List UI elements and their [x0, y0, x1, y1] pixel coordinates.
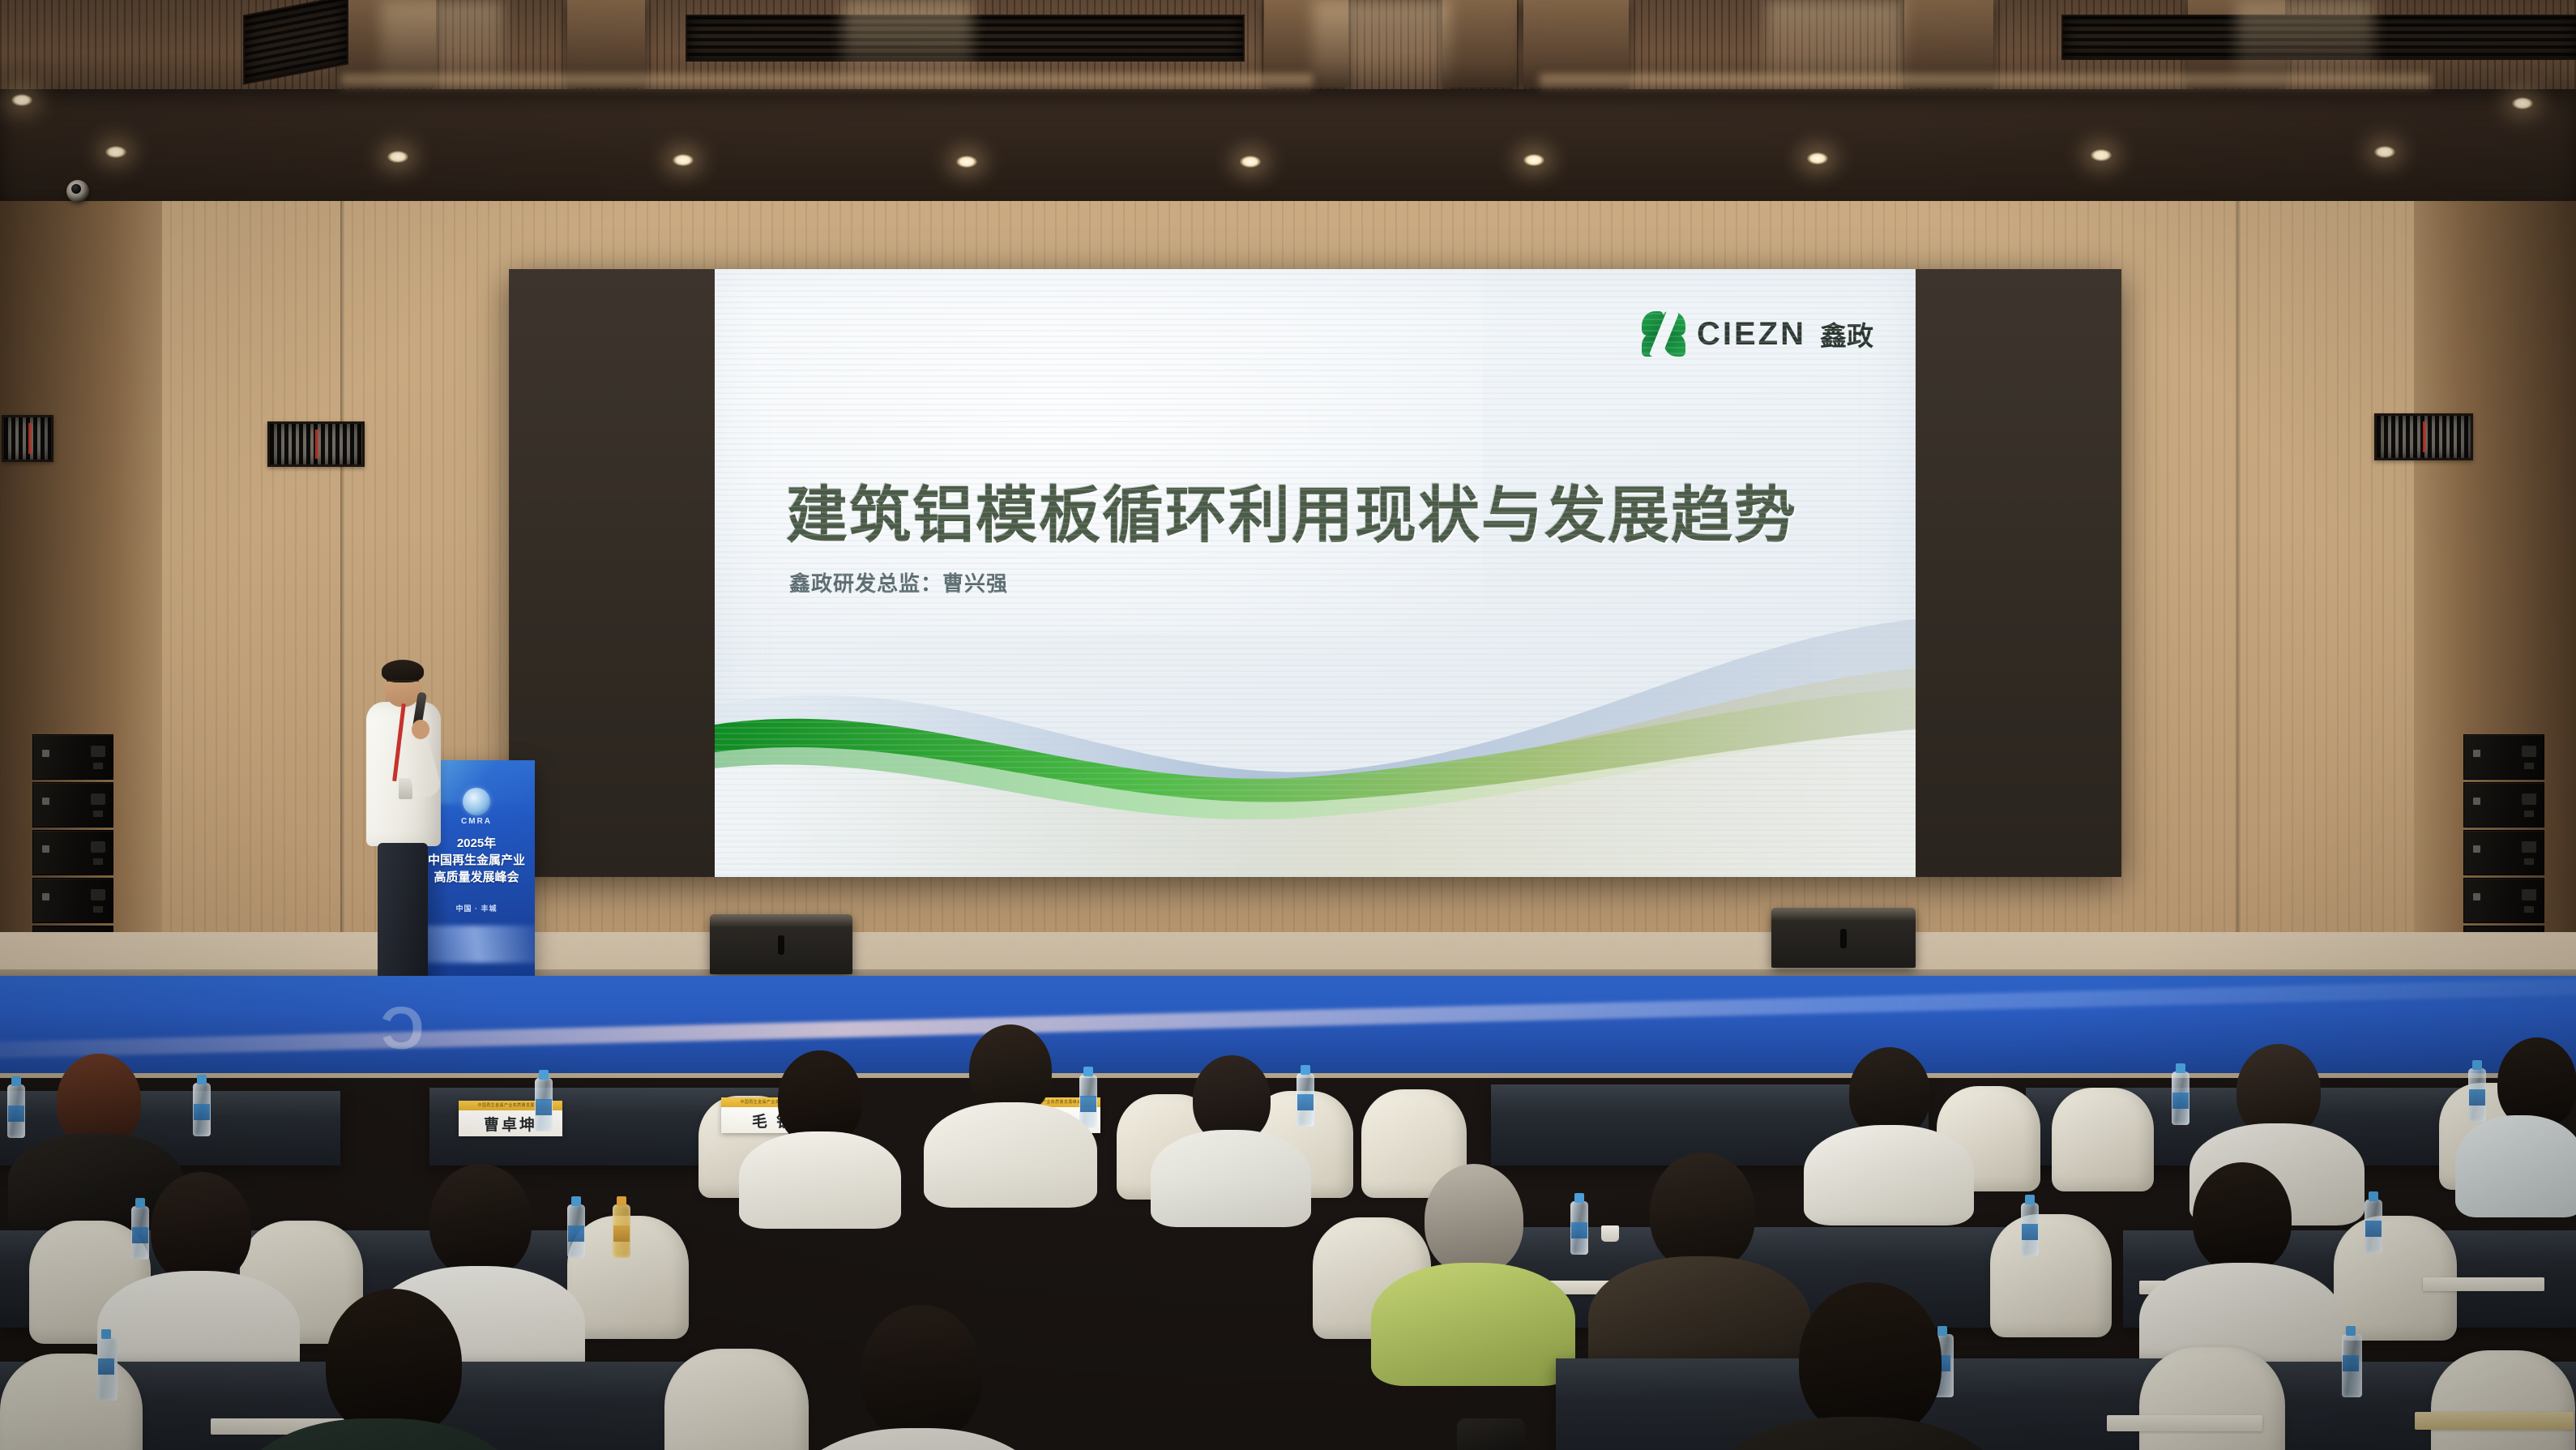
ceiling-downlight: [387, 151, 408, 163]
ceiling-beam: [1442, 0, 1517, 88]
water-bottle: [1297, 1073, 1314, 1127]
audience-head: [151, 1172, 251, 1284]
ceiling-downlight: [673, 154, 694, 166]
line-array-module: [32, 830, 113, 875]
presentation-screen: CIEZN 鑫政 建筑铝模板循环利用现状与发展趋势 鑫政研发总监：曹兴强: [509, 269, 2121, 877]
program-booklet: [2415, 1412, 2574, 1430]
line-array-module: [32, 878, 113, 923]
ciezn-four-petal-logo-icon: [1641, 311, 1686, 357]
water-bottle: [97, 1337, 117, 1401]
ceiling-downlight: [105, 146, 126, 158]
chair: [664, 1349, 809, 1450]
audience-shoulders: [786, 1428, 1050, 1450]
wall-vent-grille: [267, 421, 365, 467]
grille-center-stripe: [2423, 421, 2426, 451]
chair: [2052, 1088, 2154, 1191]
slide-wave-graphic: [715, 610, 1916, 877]
stage-monitor-speaker: [710, 914, 852, 974]
water-bottle: [2365, 1200, 2382, 1253]
audience-shoulders: [1804, 1125, 1974, 1225]
stage-monitor-speaker: [1771, 908, 1916, 968]
chair: [2431, 1350, 2575, 1450]
audience-head: [2497, 1037, 2576, 1128]
audience-head: [326, 1289, 462, 1438]
slide-content: CIEZN 鑫政 建筑铝模板循环利用现状与发展趋势 鑫政研发总监：曹兴强: [715, 269, 1916, 877]
line-array-module: [2463, 734, 2544, 780]
chair: [2139, 1347, 2285, 1450]
logo-wordmark: CIEZN: [1697, 316, 1806, 353]
water-bottle: [1079, 1075, 1097, 1128]
audience-head: [1650, 1153, 1755, 1271]
screen-side-panel-right: [1916, 269, 2121, 877]
audience-head: [1425, 1164, 1523, 1274]
logo-wordmark-chinese: 鑫政: [1820, 314, 1873, 353]
screen-side-panel-left: [509, 269, 715, 877]
water-bottle: [1570, 1201, 1588, 1255]
audience-shoulders: [1371, 1263, 1575, 1386]
slide-subtitle: 鑫政研发总监：曹兴强: [789, 567, 1008, 597]
handbag: [1457, 1418, 1525, 1450]
grille-center-stripe: [28, 423, 32, 453]
notepad: [2107, 1415, 2262, 1431]
water-bottle: [193, 1083, 211, 1136]
paper-cup: [1601, 1225, 1619, 1242]
line-array-module: [32, 734, 113, 780]
presenter-glasses-icon: [387, 680, 419, 687]
line-array-module: [32, 782, 113, 828]
chair: [1990, 1214, 2112, 1337]
security-camera-dome: [66, 180, 89, 203]
ceiling-soffit: [0, 89, 2576, 207]
wall-vent-grille: [2, 415, 53, 462]
line-array-module: [2463, 878, 2544, 923]
presenter-trousers: [378, 843, 428, 979]
ceiling: [0, 0, 2576, 203]
presenter-badge: [399, 778, 412, 799]
audience-head: [861, 1305, 982, 1441]
audience-area: 中国再生金属产业高质量发展峰会 曹卓坤 中国再生金属产业高质量发展峰会 毛 铁 …: [0, 1013, 2576, 1450]
chair: [0, 1354, 143, 1450]
slide-title: 建筑铝模板循环利用现状与发展趋势: [786, 465, 1856, 554]
water-bottle: [2172, 1071, 2189, 1125]
audience-head: [1799, 1282, 1942, 1438]
juice-bottle: [613, 1204, 630, 1258]
water-bottle: [131, 1206, 149, 1260]
cove-light-glow: [1540, 75, 2431, 92]
grille-center-stripe: [315, 430, 318, 459]
cmra-logo-icon: [463, 788, 490, 815]
audience-shoulders: [2455, 1115, 2576, 1217]
ceiling-downlight: [2374, 146, 2395, 158]
water-bottle: [567, 1204, 585, 1258]
water-bottle: [535, 1078, 553, 1131]
cove-light-glow: [340, 75, 1313, 92]
ceiling-light-cone: [1313, 0, 1450, 96]
ceiling-downlight: [956, 156, 977, 168]
audience-shoulders: [924, 1102, 1097, 1208]
ceiling-downlight: [11, 94, 32, 106]
water-bottle: [2468, 1068, 2486, 1122]
audience-head: [429, 1164, 532, 1277]
presenter-person: [366, 663, 441, 979]
ceiling-downlight: [1807, 152, 1828, 165]
water-bottle: [2342, 1334, 2362, 1397]
presenter-hair: [382, 660, 424, 682]
audience-shoulders: [1151, 1130, 1311, 1227]
notepad: [2423, 1277, 2544, 1291]
ceiling-downlight: [1240, 156, 1261, 168]
conference-hall-photo: CIEZN 鑫政 建筑铝模板循环利用现状与发展趋势 鑫政研发总监：曹兴强 CMR…: [0, 0, 2576, 1450]
ciezn-logo: CIEZN 鑫政: [1641, 311, 1873, 357]
wall-panel-seam: [340, 201, 344, 1020]
ceiling-downlight: [2512, 97, 2533, 109]
ceiling-downlight: [2091, 149, 2112, 161]
line-array-module: [2463, 830, 2544, 875]
water-bottle: [7, 1084, 25, 1138]
audience-head: [2193, 1162, 2292, 1272]
wall-vent-grille: [2374, 413, 2473, 460]
water-bottle: [2021, 1203, 2039, 1256]
ceiling-downlight: [1523, 154, 1544, 166]
audience-shoulders: [739, 1131, 901, 1229]
line-array-module: [2463, 782, 2544, 828]
wall-panel-seam: [2236, 201, 2241, 1020]
presenter-hand: [412, 720, 429, 739]
